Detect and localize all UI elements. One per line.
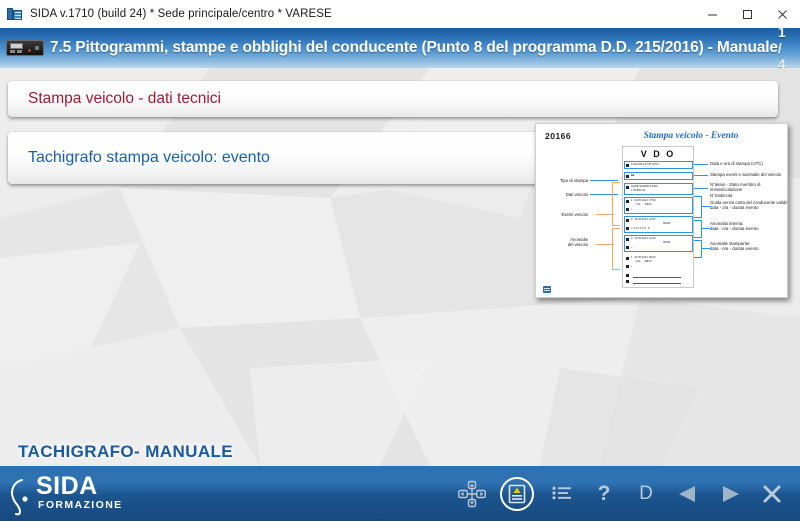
sida-app-icon	[7, 7, 23, 21]
help-icon[interactable]: ?	[590, 479, 618, 509]
illustration-title: Stampa veicolo - Evento	[606, 131, 776, 141]
slide-canvas: Stampa veicolo - dati tecnici Tachigrafo…	[0, 68, 800, 466]
slide-illustration[interactable]: 20166 Stampa veicolo - Evento V D O 14.0…	[535, 123, 788, 298]
slide-bar-title[interactable]: Stampa veicolo - dati tecnici	[8, 81, 778, 117]
index-list-icon[interactable]	[548, 479, 576, 509]
toolbar-actions: ? D	[458, 477, 786, 511]
window-title: SIDA v.1710 (build 24) * Sede principale…	[30, 8, 332, 20]
illustration-label-right-5: Anomalie stampante: data - ora - durata …	[710, 241, 788, 252]
page-title: 7.5 Pittogrammi, stampe e obblighi del c…	[50, 39, 778, 57]
sida-logo-text: SIDA	[36, 474, 123, 499]
illustration-label-left-3: Anomalie del veicolo	[540, 237, 588, 248]
illustration-label-right-1: Stampa eventi e anomalie del veicolo	[710, 172, 788, 177]
slide-bar-title-text: Stampa veicolo - dati tecnici	[8, 90, 221, 108]
illustration-label-right-3: Guida senza carta del conducente valida:…	[710, 200, 788, 211]
maximize-icon[interactable]	[730, 0, 765, 28]
next-icon[interactable]	[716, 479, 744, 509]
illustration-label-right-2: N°telaio - Stato membro di immatricolazi…	[710, 182, 788, 198]
illustration-label-right-0: Data e ora di stampa (UTC)	[710, 161, 788, 166]
slide-bar-subtitle-text: Tachigrafo stampa veicolo: evento	[8, 149, 270, 167]
window-title-bar: SIDA v.1710 (build 24) * Sede principale…	[0, 0, 800, 29]
navigation-pad-icon[interactable]	[458, 479, 486, 509]
sida-logo-mark	[8, 478, 34, 514]
illustration-label-right-4: Anomalia interna: data - ora - durata ev…	[710, 221, 788, 232]
lesson-header: 7.5 Pittogrammi, stampe e obblighi del c…	[0, 28, 800, 68]
slide-bar-subtitle[interactable]: Tachigrafo stampa veicolo: evento	[8, 132, 538, 184]
illustration-id: 20166	[545, 131, 571, 141]
sida-logo: SIDA FORMAZIONE	[8, 474, 123, 514]
minimize-icon[interactable]	[695, 0, 730, 28]
illustration-label-left-1: Dati veicolo	[540, 192, 588, 197]
slide-page-icon[interactable]	[500, 477, 534, 511]
dictionary-icon[interactable]: D	[632, 479, 660, 509]
illustration-label-left-0: Tipo di stampa	[540, 178, 588, 183]
close-icon[interactable]	[758, 479, 786, 509]
illustration-watermark-logo	[543, 286, 551, 293]
slide-watermark: TACHIGRAFO- MANUALE	[18, 442, 233, 462]
printout-ticket: V D O 14.06.2014 07:36 (UTC) ■■ ACM97115…	[622, 146, 694, 288]
application-window: SIDA v.1710 (build 24) * Sede principale…	[0, 0, 800, 521]
illustration-label-left-2: Eventi veicolo	[540, 212, 588, 217]
previous-icon[interactable]	[674, 479, 702, 509]
printout-vdo-header: V D O	[623, 149, 693, 159]
bottom-toolbar: SIDA FORMAZIONE	[0, 466, 800, 521]
sida-logo-subtext: FORMAZIONE	[38, 500, 123, 511]
page-indicator: 1 / 4	[778, 24, 786, 72]
tachograph-icon	[6, 40, 44, 56]
